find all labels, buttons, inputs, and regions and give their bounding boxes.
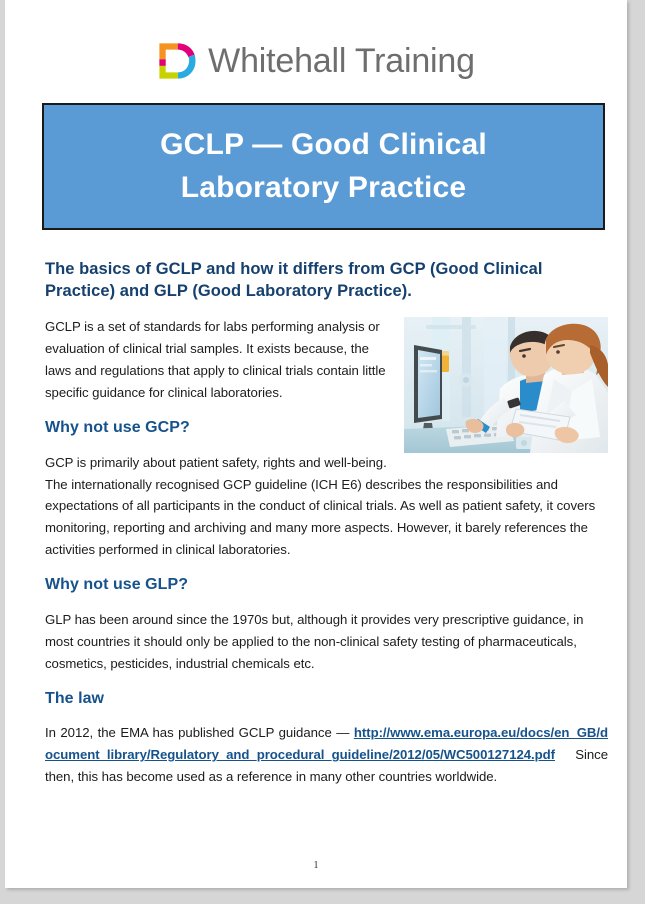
brand-wordmark: Whitehall Training [208,44,475,78]
title-line-1: GCLP — Good Clinical [160,124,487,167]
document-body: The basics of GCLP and how it differs fr… [45,258,608,788]
law-section-heading: The law [45,689,608,710]
laboratory-scientists-photo [404,317,608,453]
page-title: The basics of GCLP and how it differs fr… [45,258,608,302]
whitehall-d-mark-icon [157,41,197,81]
glp-section-paragraph: GLP has been around since the 1970s but,… [45,609,608,675]
gcp-section-paragraph: GCP is primarily about patient safety, r… [45,452,608,562]
law-text-before-link: In 2012, the EMA has published GCLP guid… [45,725,354,740]
document-page: Whitehall Training GCLP — Good Clinical … [5,0,627,888]
law-section-paragraph: In 2012, the EMA has published GCLP guid… [45,722,608,788]
brand-masthead: Whitehall Training [5,33,627,89]
document-title-banner: GCLP — Good Clinical Laboratory Practice [42,103,605,230]
title-line-2: Laboratory Practice [181,167,467,210]
glp-section-heading: Why not use GLP? [45,575,608,596]
page-number: 1 [5,860,627,871]
